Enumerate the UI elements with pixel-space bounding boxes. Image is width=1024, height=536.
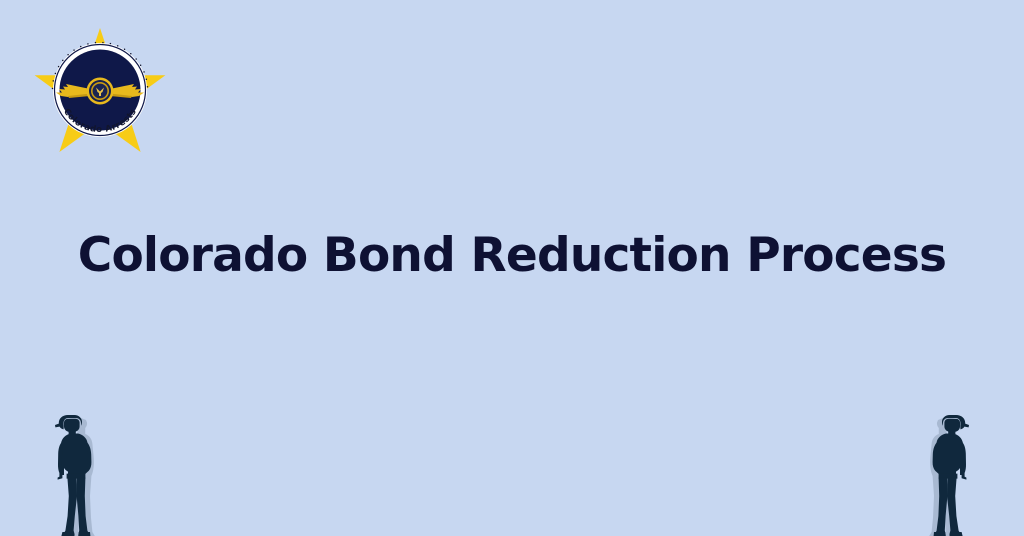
banner-graphic: • • • • • • • • • • • • • • • • • • • • … bbox=[0, 0, 1024, 536]
officer-figure-icon bbox=[46, 412, 108, 536]
page-title: Colorado Bond Reduction Process bbox=[0, 229, 1024, 283]
police-officer-silhouette-right bbox=[916, 412, 978, 536]
police-officer-silhouette-left bbox=[46, 412, 108, 536]
officer-figure-icon bbox=[916, 412, 978, 536]
badge-icon: • • • • • • • • • • • • • • • • • • • • … bbox=[32, 22, 168, 158]
colorado-arrests-logo[interactable]: • • • • • • • • • • • • • • • • • • • • … bbox=[32, 22, 168, 158]
